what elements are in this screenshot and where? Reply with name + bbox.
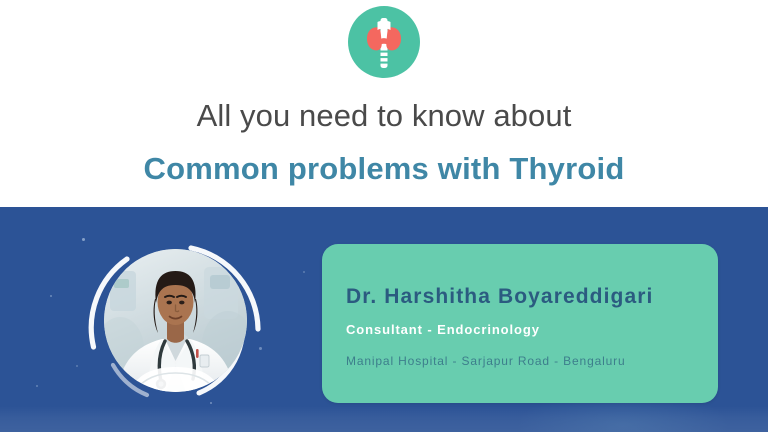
presenter-name: Dr. Harshitha Boyareddigari <box>346 285 653 309</box>
presenter-photo <box>104 249 247 392</box>
presenter-info-card: Dr. Harshitha Boyareddigari Consultant -… <box>322 244 718 403</box>
presenter-location: Manipal Hospital - Sarjapur Road - Benga… <box>346 354 626 368</box>
sparkle-dot-icon <box>50 295 52 297</box>
doctor-portrait-illustration-icon <box>104 249 247 392</box>
brand-logo <box>348 6 420 78</box>
video-title-slide: All you need to know about Common proble… <box>0 0 768 432</box>
thyroid-gland-icon <box>348 6 420 78</box>
title-section: All you need to know about Common proble… <box>0 0 768 207</box>
presenter-section: Dr. Harshitha Boyareddigari Consultant -… <box>0 207 768 432</box>
sparkle-dot-icon <box>36 385 38 387</box>
sparkle-dot-icon <box>303 271 305 273</box>
logo-circle-background <box>348 6 420 78</box>
presenter-role: Consultant - Endocrinology <box>346 322 540 337</box>
page-title: Common problems with Thyroid <box>0 148 768 190</box>
page-subtitle: All you need to know about <box>0 97 768 135</box>
presenter-avatar <box>75 229 271 411</box>
